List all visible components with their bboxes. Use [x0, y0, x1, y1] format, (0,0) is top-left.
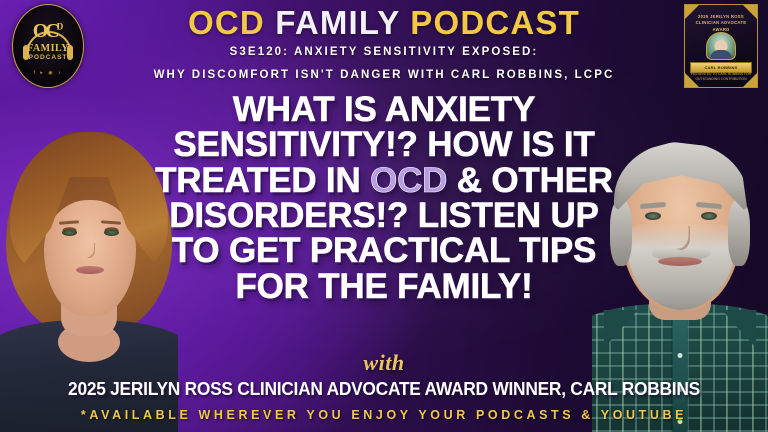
headline-line-2: SENSITIVITY!? HOW IS IT [134, 127, 634, 162]
guest-collar-left [604, 310, 638, 348]
host-left-face [44, 200, 136, 316]
headline-accent-ocd: OCD [370, 161, 447, 200]
availability-tagline: *AVAILABLE WHEREVER YOU ENJOY YOUR PODCA… [0, 408, 768, 422]
headline-line-3-after: & OTHER [447, 161, 613, 200]
logo-monogram-text: OC [33, 20, 57, 42]
guest-eye-left [645, 212, 661, 220]
podcast-cover-art: OCD FAMILY PODCAST f ▸ ◉ ♪ OCD FAMILY PO… [0, 0, 768, 432]
title-word-podcast: PODCAST [410, 4, 580, 41]
title-word-ocd: OCD [188, 4, 265, 41]
award-badge: 2025 JERILYN ROSS CLINICIAN ADVOCATE AWA… [684, 4, 758, 88]
title-word-family: FAMILY [275, 4, 400, 41]
headline-line-3: TREATED IN OCD & OTHER [134, 163, 634, 198]
headline-line-1: WHAT IS ANXIETY [134, 92, 634, 127]
host-left-eye-right [104, 229, 119, 236]
host-left-mouth [76, 266, 104, 274]
host-left-nose [84, 243, 95, 258]
headline-line-4: DISORDERS!? LISTEN UP [134, 198, 634, 233]
episode-subtitle-line-1: S3E120: ANXIETY SENSITIVITY EXPOSED: [0, 46, 768, 58]
episode-subtitle-line-2: WHY DISCOMFORT ISN'T DANGER WITH CARL RO… [0, 69, 768, 81]
header-bar: OCD FAMILY PODCAST f ▸ ◉ ♪ OCD FAMILY PO… [0, 0, 768, 92]
host-left-eye-left [62, 229, 77, 236]
with-label: with [0, 350, 768, 376]
headline-block: WHAT IS ANXIETY SENSITIVITY!? HOW IS IT … [134, 92, 634, 304]
badge-footnote: PRESENTED TO CARL ROBBINS FOR OUTSTANDIN… [690, 72, 752, 82]
badge-portrait-icon [706, 32, 736, 60]
logo-monogram: OCD [13, 20, 83, 43]
guest-eye-right [701, 212, 717, 220]
guest-credit-line: 2025 JERILYN ROSS CLINICIAN ADVOCATE AWA… [23, 378, 745, 400]
badge-heading: 2025 JERILYN ROSS CLINICIAN ADVOCATE AWA… [691, 14, 751, 33]
guest-nose [672, 226, 690, 250]
headline-line-6: FOR THE FAMILY! [134, 269, 634, 304]
logo-monogram-superscript: D [57, 21, 64, 31]
page-title: OCD FAMILY PODCAST [96, 6, 672, 39]
guest-hair-side-right [728, 200, 750, 266]
guest-mouth [658, 257, 702, 266]
guest-collar-right [722, 310, 756, 348]
headline-line-3-before: TREATED IN [155, 161, 370, 200]
headline-line-5: TO GET PRACTICAL TIPS [134, 233, 634, 268]
